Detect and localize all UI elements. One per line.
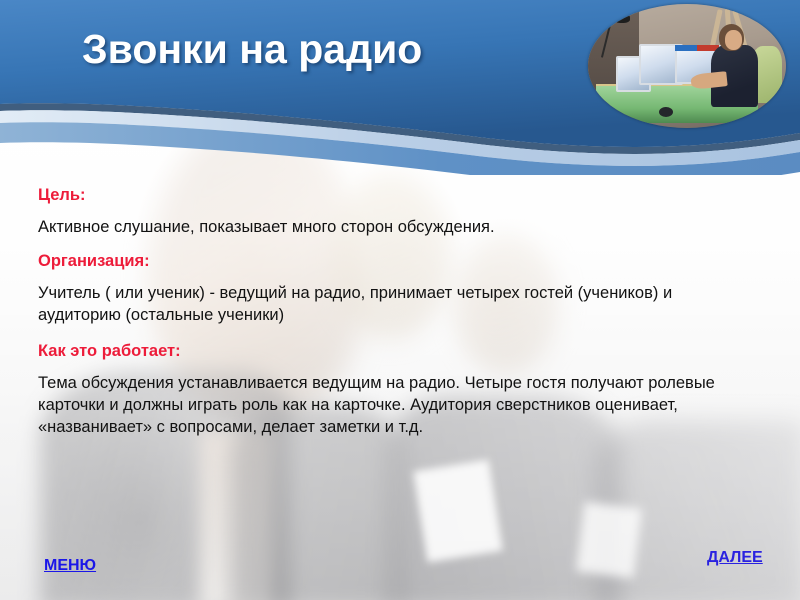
radio-studio-photo xyxy=(588,4,786,128)
goal-heading: Цель: xyxy=(38,186,750,205)
studio-operator-face xyxy=(725,30,743,50)
how-it-works-heading: Как это работает: xyxy=(38,342,750,361)
microphone-icon xyxy=(614,14,630,23)
organization-paragraph: Учитель ( или ученик) - ведущий на радио… xyxy=(38,282,750,326)
organization-heading: Организация: xyxy=(38,252,750,271)
computer-mouse-icon xyxy=(659,107,673,117)
menu-link[interactable]: МЕНЮ xyxy=(44,557,96,575)
goal-paragraph: Активное слушание, показывает много стор… xyxy=(38,216,750,238)
page-title: Звонки на радио xyxy=(82,26,422,73)
presentation-slide: Звонки на радио Цель: Активное слушание,… xyxy=(0,0,800,600)
slide-body-content: Цель: Активное слушание, показывает мног… xyxy=(38,186,750,453)
next-link[interactable]: ДАЛЕЕ xyxy=(707,549,763,567)
how-it-works-paragraph: Тема обсуждения устанавливается ведущим … xyxy=(38,372,750,438)
